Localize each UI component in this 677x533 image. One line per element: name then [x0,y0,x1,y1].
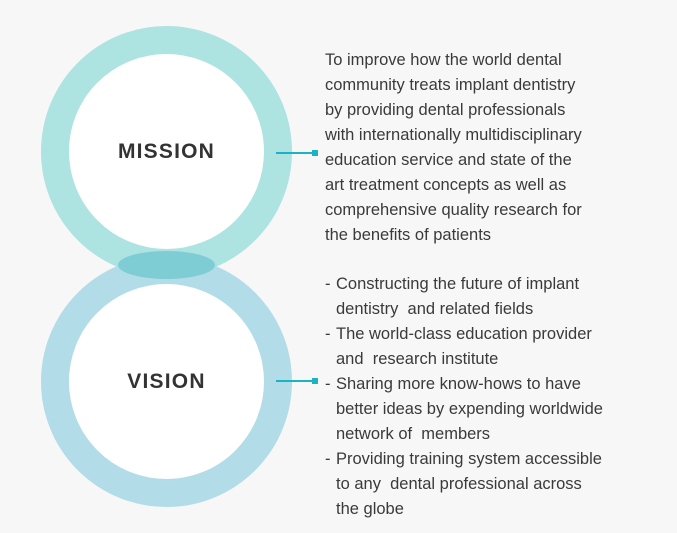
mission-line: the benefits of patients [325,223,655,248]
vision-line: the globe [336,500,404,518]
bullet-dash-icon: - [325,447,336,472]
mission-vision-infographic: MISSION VISION To improve how the world … [0,0,677,533]
vision-line: dentistry and related fields [336,300,533,318]
vision-line: and research institute [336,350,498,368]
vision-line: Sharing more know-hows to have [336,375,581,393]
mission-line: art treatment concepts as well as [325,173,655,198]
vision-line: to any dental professional across [336,475,582,493]
list-item: - Constructing the future of implant den… [325,272,655,322]
list-item: - Providing training system accessible t… [325,447,655,522]
mission-line: community treats implant dentistry [325,73,655,98]
mission-connector-line-icon [276,152,317,154]
mission-label: MISSION [69,140,264,164]
mission-text-block: To improve how the world dental communit… [325,48,655,248]
list-item-text: Sharing more know-hows to have better id… [336,372,655,447]
list-item: - Sharing more know-hows to have better … [325,372,655,447]
list-item-text: Constructing the future of implant denti… [336,272,655,322]
bullet-dash-icon: - [325,372,336,397]
bullet-dash-icon: - [325,322,336,347]
vision-connector-line-icon [276,380,317,382]
mission-line: education service and state of the [325,148,655,173]
vision-connector-node-icon [312,378,318,384]
vision-line: Constructing the future of implant [336,275,579,293]
mission-connector-node-icon [312,150,318,156]
list-item: - The world-class education provider and… [325,322,655,372]
vision-label: VISION [69,370,264,394]
vision-line: Providing training system accessible [336,450,602,468]
mission-line: with internationally multidisciplinary [325,123,655,148]
list-item-text: Providing training system accessible to … [336,447,655,522]
circles-layer: MISSION VISION [0,0,340,533]
vision-line: network of members [336,425,490,443]
bullet-dash-icon: - [325,272,336,297]
mission-line: by providing dental professionals [325,98,655,123]
vision-text-block: - Constructing the future of implant den… [325,272,655,522]
vision-line: better ideas by expending worldwide [336,400,603,418]
mission-line: To improve how the world dental [325,48,655,73]
list-item-text: The world-class education provider and r… [336,322,655,372]
mission-circle: MISSION [41,26,292,277]
vision-line: The world-class education provider [336,325,592,343]
mission-line: comprehensive quality research for [325,198,655,223]
circles-overlap-lens [118,251,215,279]
vision-circle: VISION [41,256,292,507]
